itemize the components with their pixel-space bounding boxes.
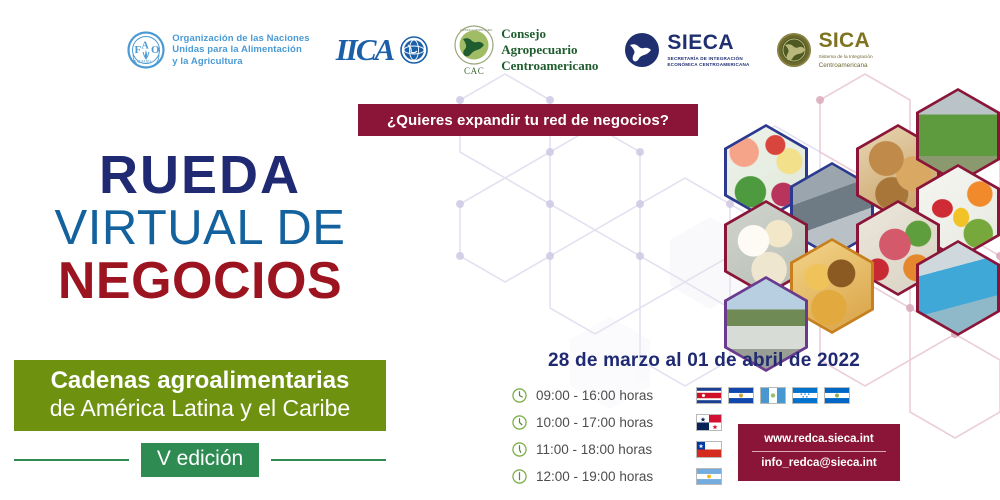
hexagon-photo-collage [700,88,1000,348]
fao-line-1: Organización de las Naciones [172,33,309,44]
cac-map-emblem-icon: CONSEJO AGROPECUARIO [454,25,494,65]
sica-wordmark: SICA [819,29,873,53]
svg-text:CONSEJO AGROPECUARIO: CONSEJO AGROPECUARIO [460,29,492,32]
fao-emblem-icon: F A O FIAT PANIS [127,31,165,69]
subtitle-box: Cadenas agroalimentarias de América Lati… [14,360,386,431]
edition-badge: V edición [141,443,259,477]
sieca-wordmark: SIECA [667,31,749,55]
cac-abbr: CAC [464,66,484,76]
subtitle-line-2: de América Latina y el Caribe [14,395,386,422]
clock-icon [512,469,527,484]
schedule-flags [696,468,722,485]
sica-sub-2: Centroamericana [819,62,868,69]
contact-website[interactable]: www.redca.sieca.int [738,431,900,448]
sica-sub-1: Sistema de la Integración [819,54,873,61]
schedule-flags [696,441,722,458]
fao-line-2: Unidas para la Alimentación [172,44,309,55]
partner-logo-bar: F A O FIAT PANIS Organización de las Nac… [0,14,1000,86]
headline-line-virtual: VIRTUAL DE [0,203,400,253]
cac-line-2: Agropecuario [501,42,598,58]
contact-email[interactable]: info_redca@sieca.int [738,455,900,472]
edition-rule-right [271,459,386,461]
sieca-logo-text: SIECA SECRETARÍA DE INTEGRACIÓN ECONÓMIC… [667,31,749,69]
flag-chile [696,441,722,458]
event-dates: 28 de marzo al 01 de abril de 2022 [548,350,860,372]
fao-logo: F A O FIAT PANIS Organización de las Nac… [127,31,309,69]
schedule-time: 12:00 - 19:00 horas [536,469,696,484]
schedule-time: 09:00 - 16:00 horas [536,388,696,403]
flag-guatemala [760,387,786,404]
cac-logo: CONSEJO AGROPECUARIO CAC Consejo Agropec… [454,25,598,76]
edition-row: V edición [14,440,386,480]
schedule-flags [696,387,850,404]
sieca-sub-2: ECONÓMICA CENTROAMERICANA [667,62,749,69]
sica-logo-text: SICA Sistema de la Integración Centroame… [819,29,873,70]
flag-nicaragua [824,387,850,404]
schedule-flags [696,414,722,431]
sieca-map-circle-icon [624,32,660,68]
edition-rule-left [14,459,129,461]
question-banner-text: ¿Quieres expandir tu red de negocios? [387,112,669,129]
question-banner: ¿Quieres expandir tu red de negocios? [358,104,698,136]
sica-logo: SICA Sistema de la Integración Centroame… [776,29,873,70]
contact-divider [752,451,886,452]
contact-box[interactable]: www.redca.sieca.int info_redca@sieca.int [738,424,900,481]
flag-el-salvador [728,387,754,404]
flag-panama [696,414,722,431]
cac-logo-text: Consejo Agropecuario Centroamericano [501,26,598,74]
subtitle-line-1: Cadenas agroalimentarias [14,367,386,395]
sica-seal-icon [776,32,812,68]
clock-icon [512,442,527,457]
cac-line-3: Centroamericano [501,58,598,74]
svg-text:O: O [151,44,160,56]
cac-emblem-wrap: CONSEJO AGROPECUARIO CAC [454,25,494,76]
sieca-logo: SIECA SECRETARÍA DE INTEGRACIÓN ECONÓMIC… [624,31,749,69]
fao-logo-text: Organización de las Naciones Unidas para… [172,33,309,66]
cac-line-1: Consejo [501,26,598,42]
iica-wordmark: IICA [336,32,393,68]
clock-icon [512,415,527,430]
schedule-time: 11:00 - 18:00 horas [536,442,696,457]
svg-text:A: A [142,41,150,52]
main-headline: RUEDA VIRTUAL DE NEGOCIOS [0,150,400,308]
clock-icon [512,388,527,403]
svg-text:FIAT PANIS: FIAT PANIS [133,60,151,64]
fao-line-3: y la Agricultura [172,56,309,67]
flag-argentina [696,468,722,485]
schedule-time: 10:00 - 17:00 horas [536,415,696,430]
headline-line-rueda: RUEDA [0,150,400,201]
schedule-row: 09:00 - 16:00 horas [512,382,850,409]
flag-costa-rica [696,387,722,404]
iica-globe-icon [400,36,428,64]
iica-logo: IICA [336,32,428,68]
banner-canvas: F A O FIAT PANIS Organización de las Nac… [0,0,1000,500]
flag-honduras [792,387,818,404]
headline-line-negocios: NEGOCIOS [0,255,400,308]
svg-text:F: F [135,44,142,56]
